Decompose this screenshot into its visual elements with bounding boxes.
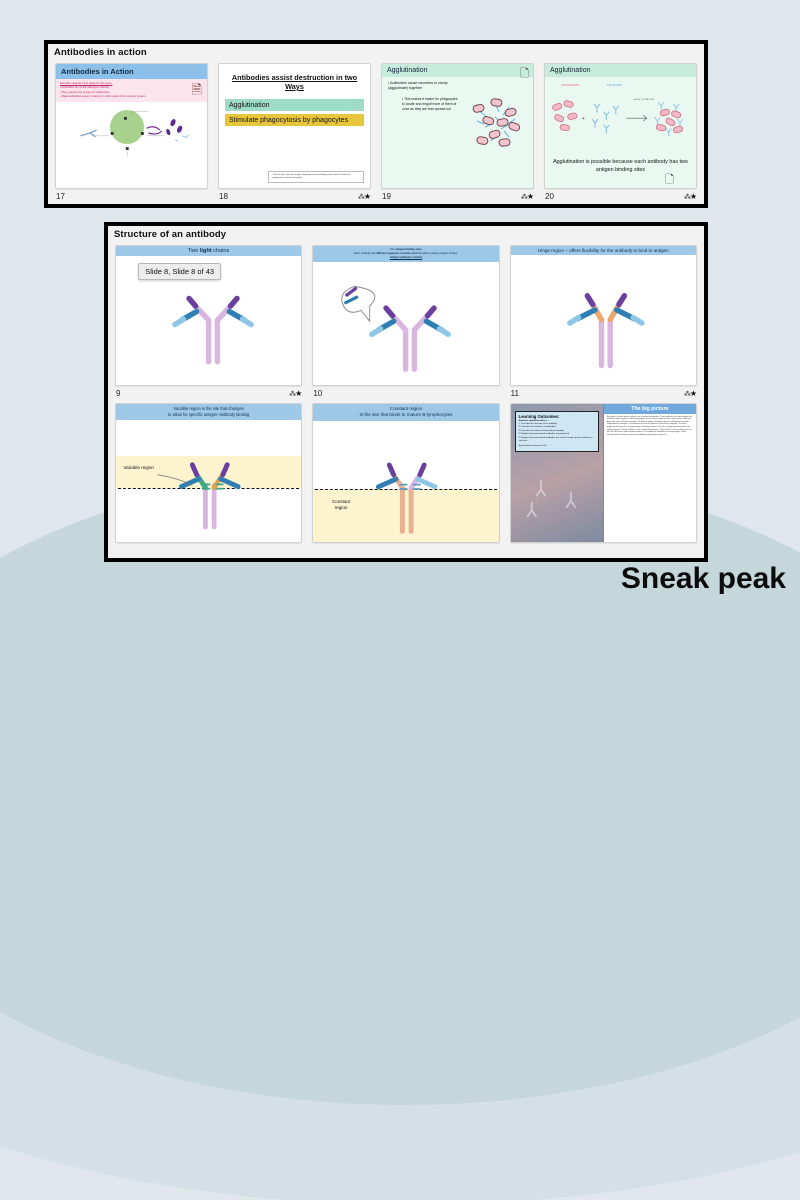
slide18-note: The first way is that the antigen clumpi… — [268, 171, 364, 183]
slide20-diagram: PATHOGENS ANTIGENS AGGLUTINATION + — [545, 77, 696, 159]
slide18-title: Antibodies assist destruction in two Way… — [225, 73, 364, 91]
slide13-figure: Constant region — [313, 421, 498, 542]
panel-structure-of-an-antibody: Structure of an antibody Two light chain… — [104, 222, 708, 562]
slide17-title: Antibodies in Action — [56, 64, 207, 79]
slide-number-19: 19 — [382, 192, 391, 201]
panel-title-structure-of-an-antibody: Structure of an antibody — [108, 226, 704, 243]
slide-cell-10[interactable]: Two antigen-binding sites. Each antibody… — [307, 243, 504, 401]
slide-footer-19: 19 ⁂★ — [381, 189, 534, 204]
agglutination-clump-figure — [465, 93, 529, 153]
star-icon[interactable]: ⁂★ — [684, 389, 696, 398]
slide20-title: Agglutination — [545, 64, 696, 77]
page-icon: 🗋 — [665, 171, 674, 189]
slide-thumbnail-14[interactable]: Learning Outcomes: Students should be ab… — [510, 403, 697, 544]
slide-cell-19[interactable]: Agglutination 🗋 • Antibodies cause micro… — [376, 61, 539, 204]
slide-thumbnail-12[interactable]: Variable region is the site that changes… — [115, 403, 302, 544]
slide-footer-12: 12 — [115, 543, 302, 558]
slide12-figure: Variable region — [116, 420, 301, 542]
slide-thumbnail-13[interactable]: Constant region Is the site that binds t… — [312, 403, 499, 544]
slide19-bullet-1: • Antibodies cause microbes to clump (ag… — [388, 81, 452, 92]
watermark-sneak-peak: Sneak peak — [621, 562, 786, 596]
slide-thumbnail-17[interactable]: Antibodies in Action Describe students m… — [55, 63, 208, 189]
slide-cell-18[interactable]: Antibodies assist destruction in two Way… — [213, 61, 376, 204]
slide-footer-18: 18 ⁂★ — [218, 189, 371, 204]
slide17-text-block: Describe students must grasp for this ex… — [56, 79, 207, 102]
slide12-heading: Variable region is the site that changes… — [116, 404, 301, 420]
slide-cell-20[interactable]: Agglutination PATHOGENS ANTIGENS AGGLUTI… — [539, 61, 702, 204]
panel-antibodies-in-action: Antibodies in action Antibodies in Actio… — [44, 40, 708, 208]
slide-footer-13: 13 — [312, 543, 499, 558]
slide-footer-11: 11 ⁂★ — [510, 386, 697, 401]
slide11-figure — [511, 255, 696, 385]
slide-footer-17: 17 — [55, 189, 208, 204]
svg-text:+: + — [582, 116, 586, 122]
slide19-title: Agglutination — [387, 67, 427, 74]
slide-number-9: 9 — [116, 389, 120, 398]
slide-footer-20: 20 ⁂★ — [544, 189, 697, 204]
slide17-bullet-3: • Make antibodies easier to destroy in o… — [60, 95, 203, 99]
slide-number-10: 10 — [313, 389, 322, 398]
slide-cell-9[interactable]: Two light chains — [110, 243, 307, 401]
slide19-title-bar: Agglutination 🗋 — [382, 64, 533, 77]
slide-number-18: 18 — [219, 192, 228, 201]
slide13-heading: Constant region Is the site that binds t… — [313, 404, 498, 422]
slide9-heading: Two light chains — [116, 246, 301, 256]
slide-number-17: 17 — [56, 192, 65, 201]
star-icon[interactable]: ⁂★ — [289, 389, 301, 398]
slide11-heading: Hinge region – offers flexibility for th… — [511, 246, 696, 255]
slide-cell-14[interactable]: Learning Outcomes: Students should be ab… — [505, 401, 702, 559]
big-picture-title: The big picture — [604, 404, 696, 414]
slide-footer-10: 10 — [312, 386, 499, 401]
star-icon[interactable]: ⁂★ — [684, 192, 696, 201]
slide-cell-12[interactable]: Variable region is the site that changes… — [110, 401, 307, 559]
panel-title-antibodies-in-action: Antibodies in action — [48, 44, 704, 61]
slide17-figure — [56, 102, 207, 164]
slide-number-20: 20 — [545, 192, 554, 201]
star-icon[interactable]: ⁂★ — [521, 192, 533, 201]
slide-thumbnail-19[interactable]: Agglutination 🗋 • Antibodies cause micro… — [381, 63, 534, 189]
slide-cell-17[interactable]: Antibodies in Action Describe students m… — [50, 61, 213, 204]
star-icon[interactable]: ⁂★ — [358, 192, 370, 201]
slide19-body: • Antibodies cause microbes to clump (ag… — [382, 77, 533, 188]
slide-cell-13[interactable]: Constant region Is the site that binds t… — [307, 401, 504, 559]
slide18-bar-agglutination: Agglutination — [225, 99, 364, 111]
slide-number-11: 11 — [511, 389, 519, 398]
slide-tooltip: Slide 8, Slide 8 of 43 — [138, 263, 221, 280]
slide-thumbnail-18[interactable]: Antibodies assist destruction in two Way… — [218, 63, 371, 189]
slide10-figure — [313, 262, 498, 385]
document-icon: 🗎 — [192, 81, 202, 103]
slide-thumbnail-10[interactable]: Two antigen-binding sites. Each antibody… — [312, 245, 499, 386]
slide18-bar-phagocytosis: Stimulate phagocytosis by phagocytes — [225, 114, 364, 126]
slide-cell-11[interactable]: Hinge region – offers flexibility for th… — [505, 243, 702, 401]
slide-footer-9: 9 ⁂★ — [115, 386, 302, 401]
slide10-heading: Two antigen-binding sites. Each antibody… — [313, 246, 498, 262]
slide19-bullet-2: • This makes it easier for phagocytes to… — [402, 97, 460, 112]
slide-thumbnail-11[interactable]: Hinge region – offers flexibility for th… — [510, 245, 697, 386]
slide-thumbnail-20[interactable]: Agglutination PATHOGENS ANTIGENS AGGLUTI… — [544, 63, 697, 189]
slide14-left-photo: Learning Outcomes: Students should be ab… — [511, 404, 603, 543]
slide14-right-text: The big picture Each type of cell has sp… — [603, 404, 696, 543]
slide-thumbnail-9[interactable]: Two light chains — [115, 245, 302, 386]
big-picture-body: Each type of cell has specific molecules… — [604, 414, 696, 543]
slide-footer-14: 14 — [510, 543, 697, 558]
